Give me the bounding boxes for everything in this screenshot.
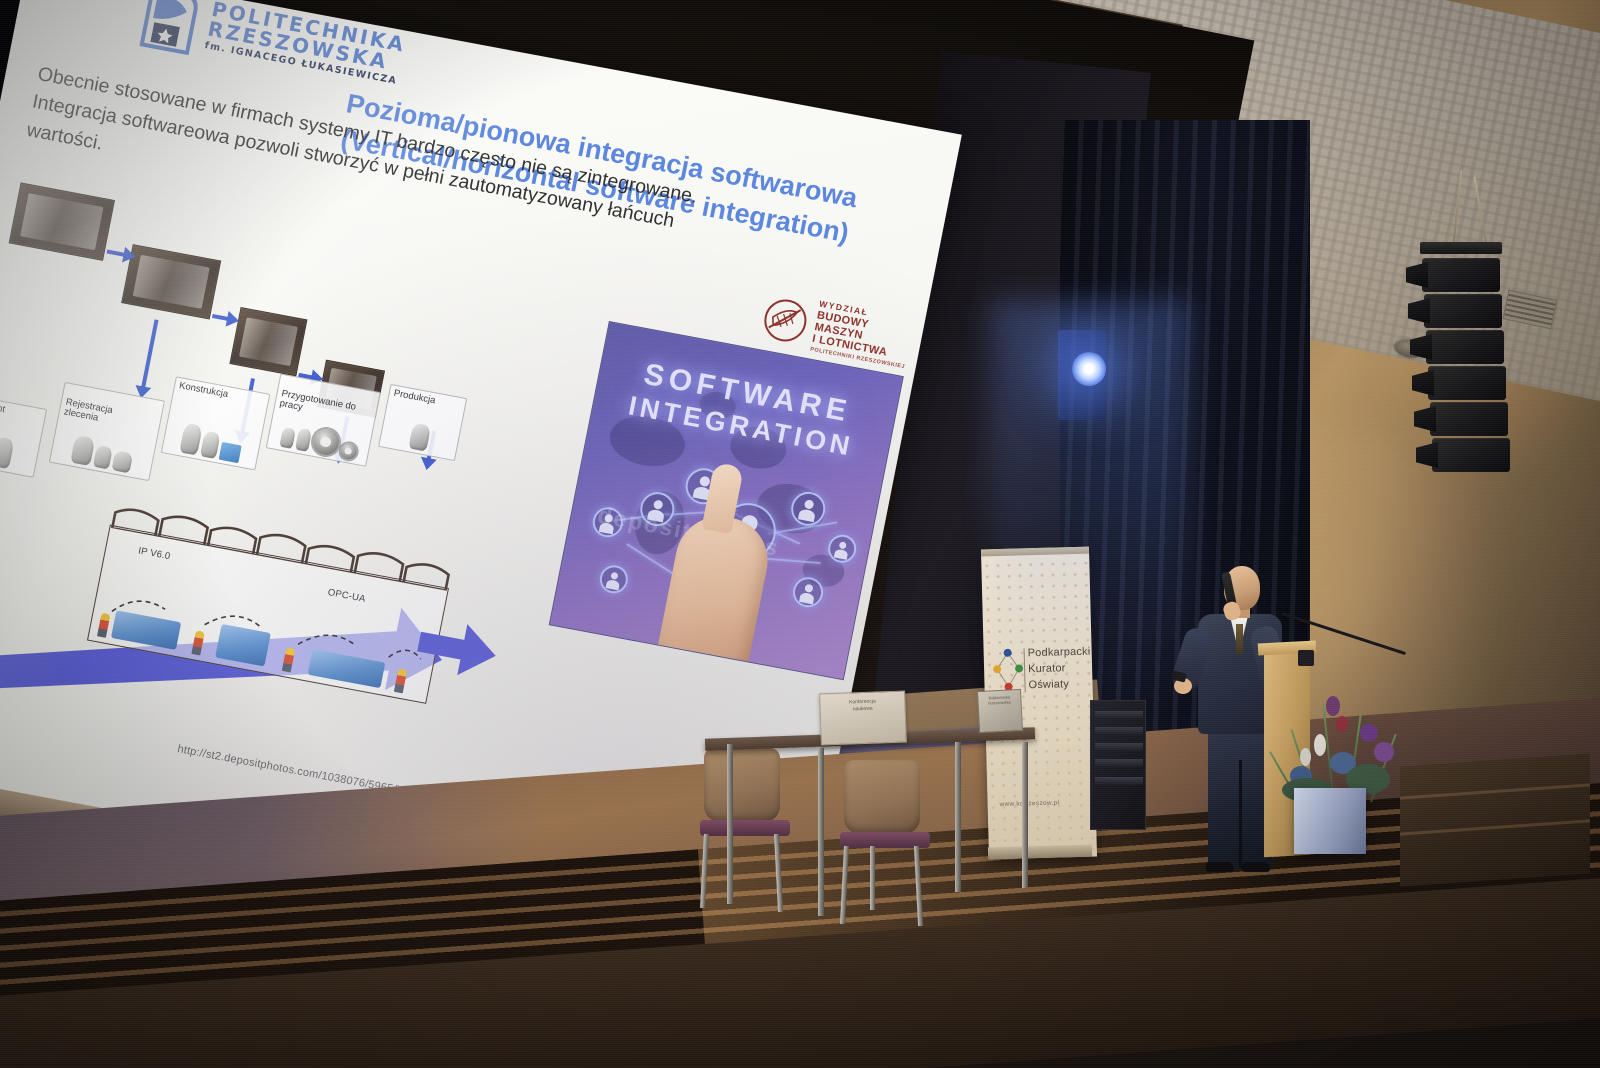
- figure-icon: [112, 450, 134, 473]
- name-card-front: Konferencja naukowa: [819, 691, 907, 746]
- stage-steps: [1400, 753, 1590, 886]
- down-arrow-registration: [141, 319, 159, 388]
- flower-bloom-white: [1314, 734, 1326, 756]
- figure-icon: [200, 431, 221, 459]
- photo-thumb-engine: [9, 182, 115, 260]
- step-edge: [1400, 819, 1590, 835]
- leg-divide: [1239, 760, 1242, 868]
- protocol-label-ipv6: IP V6.0: [137, 545, 171, 562]
- blue-stage-spotlight: [1072, 352, 1106, 386]
- rack-unit: [1095, 711, 1143, 719]
- rack-unit: [1095, 727, 1143, 735]
- presenter-legs: [1208, 730, 1272, 868]
- chair-backrest: [844, 760, 920, 834]
- speaker-horn: [1408, 298, 1430, 324]
- flower-bloom-purple: [1360, 724, 1378, 742]
- chair-leg: [870, 846, 875, 910]
- speaker-horn: [1414, 406, 1436, 432]
- gear-icon: [310, 427, 341, 457]
- table-leg: [727, 744, 733, 904]
- figure-icon: [0, 436, 15, 469]
- table-leg: [818, 748, 824, 916]
- speaker-rigging-bar: [1420, 242, 1502, 254]
- rack-unit: [1095, 759, 1143, 767]
- step-card-produkcja: Produkcja: [378, 384, 467, 461]
- software-integration-image: SOFTWARE INTEGRATION: [549, 321, 904, 680]
- equipment-rack: [1090, 700, 1146, 830]
- chair-backrest: [704, 748, 780, 822]
- photo-thumb-frame: [121, 244, 221, 319]
- photo-thumb-door: [229, 307, 307, 376]
- figure-icon: [179, 423, 203, 456]
- speaker-module: [1430, 402, 1508, 436]
- step-label-produkcja: Produkcja: [393, 388, 437, 407]
- line-array-speaker-cluster: [1412, 248, 1506, 478]
- speaker-module: [1422, 258, 1500, 292]
- flower-bloom-white: [1300, 748, 1311, 766]
- step-edge: [1400, 783, 1590, 799]
- presenter-shoe: [1242, 862, 1270, 872]
- step-card-klient: Klient: [0, 396, 47, 478]
- speaker-module: [1428, 366, 1506, 400]
- flower-bloom-purple: [1374, 742, 1394, 762]
- step-card-rejestracja: Rejestracja zlecenia: [49, 382, 165, 481]
- university-emblem-icon: [135, 0, 204, 58]
- thumb-arrow-1: [107, 250, 125, 257]
- figure-icon: [93, 445, 113, 470]
- presenter-tie: [1236, 624, 1243, 654]
- figure-icon: [279, 427, 296, 449]
- protocol-label-opcua: OPC-UA: [327, 587, 367, 605]
- step-label-klient: Klient: [0, 400, 6, 415]
- process-diagram: Klient Rejestracja zlecenia: [0, 169, 614, 793]
- speaker-horn: [1412, 370, 1434, 396]
- thumb-arrow-2: [212, 314, 229, 321]
- rack-unit: [1095, 743, 1143, 751]
- speaker-module: [1424, 294, 1502, 328]
- figure-icon: [295, 428, 312, 452]
- figure-icon: [70, 435, 95, 466]
- monitor-icon: [219, 442, 242, 463]
- faculty-wing-emblem-icon: [758, 294, 812, 348]
- step-label-konstrukcja: Konstrukcja: [178, 380, 229, 400]
- step-card-konstrukcja: Konstrukcja: [161, 376, 271, 470]
- speaker-module: [1426, 330, 1504, 364]
- figure-icon: [408, 423, 431, 452]
- speaker-horn: [1410, 334, 1432, 360]
- speaker-horn: [1416, 442, 1438, 468]
- flower-planter-box: [1294, 788, 1366, 854]
- table-leg: [955, 742, 961, 892]
- wall-connector-box: [1298, 650, 1314, 666]
- speaker-module: [1432, 438, 1510, 472]
- rack-unit: [1095, 777, 1143, 785]
- flower-bloom-red: [1336, 716, 1348, 732]
- auditorium-scene: POLITECHNIKA RZESZOWSKA fm. IGNACEGO ŁUK…: [0, 0, 1600, 1068]
- flower-arrangement: [1274, 690, 1404, 800]
- gear-icon: [339, 442, 358, 461]
- flower-bloom-purple: [1326, 696, 1340, 716]
- presenter-shoe: [1206, 862, 1234, 872]
